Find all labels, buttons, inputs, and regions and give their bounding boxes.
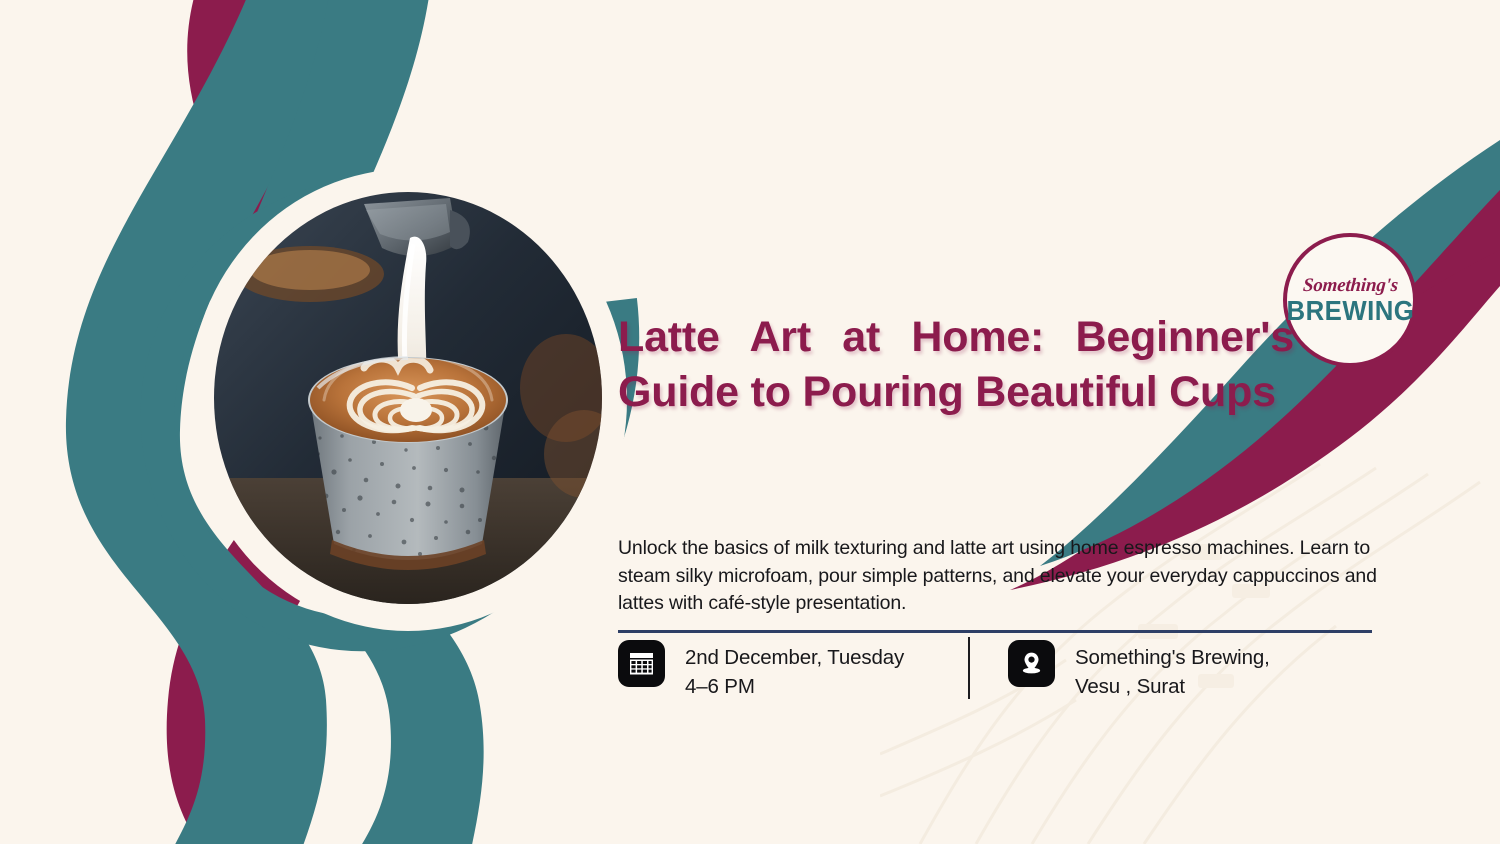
event-date-text: 2nd December, Tuesday 4–6 PM <box>685 640 904 701</box>
event-location-text: Something's Brewing, Vesu , Surat <box>1075 640 1270 701</box>
poster-canvas: Something's BREWING Latte Art at Home: B… <box>0 0 1500 844</box>
map-pin-icon <box>1008 640 1055 687</box>
title-line-2: Guide to Pouring Beautiful Cups <box>618 365 1318 420</box>
title-line-1: Latte Art at Home: Beginner's <box>618 310 1294 365</box>
horizontal-divider <box>618 630 1372 633</box>
info-row: 2nd December, Tuesday 4–6 PM Something's… <box>618 640 1408 720</box>
event-date-block: 2nd December, Tuesday 4–6 PM <box>618 640 904 701</box>
description-text: Unlock the basics of milk texturing and … <box>618 535 1404 618</box>
hero-photo-circle <box>196 176 620 624</box>
page-title: Latte Art at Home: Beginner's Guide to P… <box>618 310 1318 420</box>
content-column: Latte Art at Home: Beginner's Guide to P… <box>618 0 1408 844</box>
latte-photo <box>214 192 602 604</box>
event-location-block: Something's Brewing, Vesu , Surat <box>1008 640 1270 701</box>
calendar-icon <box>618 640 665 687</box>
